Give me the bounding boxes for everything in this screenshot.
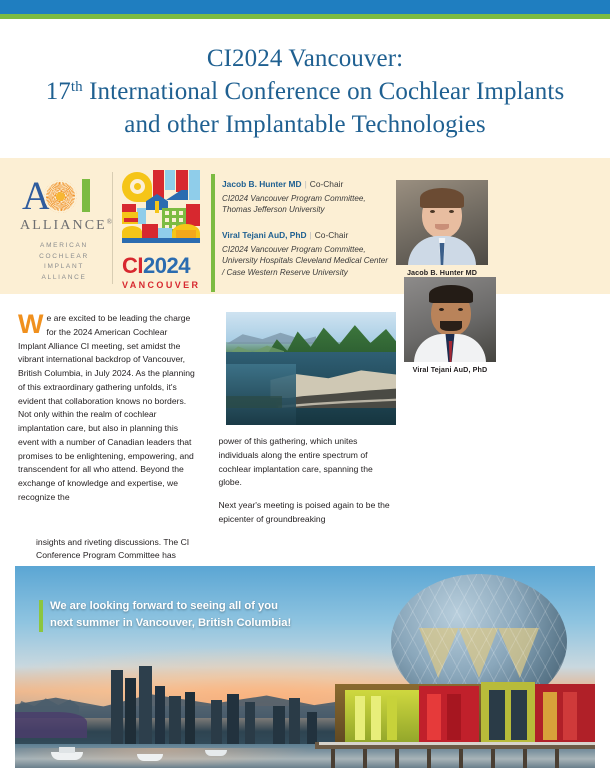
aci-subtext-line-2: COCHLEAR <box>20 252 108 263</box>
chair-separator: | <box>302 179 310 189</box>
aci-logo-mark: A <box>20 178 108 216</box>
aci-subtext: AMERICAN COCHLEAR IMPLANT ALLIANCE <box>20 241 108 284</box>
portrait-photo-jacob-hunter <box>396 180 488 265</box>
chair-name: Viral Tejani AuD, PhD <box>222 230 307 240</box>
article-paragraph: power of this gathering, which unites in… <box>218 435 396 490</box>
chair-heading: Viral Tejani AuD, PhD|Co-Chair <box>222 225 391 243</box>
aci-subtext-line-1: AMERICAN <box>20 241 108 252</box>
caption-accent-bar <box>39 600 43 632</box>
vancouver-skyline-science-world-dusk-photo: We are looking forward to seeing all of … <box>15 566 595 768</box>
ci2024-vancouver-logo: CI2024 VANCOUVER <box>122 168 200 290</box>
banner-caption-line-2: next summer in Vancouver, British Columb… <box>50 615 339 632</box>
ci-logo-city: VANCOUVER <box>122 280 200 290</box>
chair-heading: Jacob B. Hunter MD|Co-Chair <box>222 174 391 192</box>
title-line-2-post: International Conference on Cochlear Imp… <box>83 78 565 105</box>
aci-subtext-line-4: ALLIANCE <box>20 273 108 284</box>
vancouver-skyline-illustration-icon <box>122 168 200 250</box>
chair-entry: Jacob B. Hunter MD|Co-Chair CI2024 Vanco… <box>222 174 391 216</box>
title-line-2-pre: 17 <box>46 78 71 105</box>
chair-separator: | <box>307 230 315 240</box>
logo-divider <box>112 172 113 284</box>
aci-wordmark: ALLIANCE® <box>20 218 108 234</box>
ci-wordmark-year: 2024 <box>143 253 190 278</box>
title-line-2: 17th International Conference on Cochlea… <box>0 75 610 108</box>
sunburst-icon <box>44 180 77 213</box>
ci2024-wordmark: CI2024 <box>122 255 200 277</box>
page-title: CI2024 Vancouver: 17th International Con… <box>0 42 610 141</box>
article-paragraph: We are excited to be leading the charge … <box>18 312 196 505</box>
article-paragraph-text: e are excited to be leading the charge f… <box>18 313 195 502</box>
banner-caption-text: We are looking forward to seeing all of … <box>39 598 339 632</box>
chair-role: Co-Chair <box>310 179 344 189</box>
newsletter-page: CI2024 Vancouver: 17th International Con… <box>0 0 610 768</box>
stanley-park-seawall-photo <box>226 312 396 425</box>
drop-cap: W <box>18 313 46 335</box>
chair-name: Jacob B. Hunter MD <box>222 179 302 189</box>
banner-caption: We are looking forward to seeing all of … <box>39 598 339 632</box>
aci-letter-i-bar <box>82 179 90 212</box>
registered-mark: ® <box>107 218 114 226</box>
chair-role: Co-Chair <box>315 230 349 240</box>
aci-subtext-line-3: IMPLANT <box>20 262 108 273</box>
title-ordinal-suffix: th <box>71 79 83 95</box>
chair-affiliation: CI2024 Vancouver Program Committee, Thom… <box>222 193 391 216</box>
top-blue-rule <box>0 0 610 14</box>
article-column-2: power of this gathering, which unites in… <box>218 312 396 536</box>
title-line-3: and other Implantable Technologies <box>0 108 610 141</box>
chair-entry: Viral Tejani AuD, PhD|Co-Chair CI2024 Va… <box>222 225 391 278</box>
aci-wordmark-text: ALLIANCE <box>20 218 107 233</box>
chair-affiliation: CI2024 Vancouver Program Committee, Univ… <box>222 244 391 278</box>
headshot-item: Jacob B. Hunter MD <box>396 180 488 277</box>
headshot-caption: Jacob B. Hunter MD <box>396 268 488 277</box>
top-green-rule <box>0 14 610 19</box>
article-paragraph: Next year's meeting is poised again to b… <box>218 499 396 527</box>
chairs-accent-bar <box>211 174 215 292</box>
article-column-1: We are excited to be leading the charge … <box>18 312 196 514</box>
aci-alliance-logo: A ALLIANCE® AMERICAN COCHLEAR IMPLANT AL… <box>20 178 108 284</box>
banner-caption-line-1: We are looking forward to seeing all of … <box>50 598 339 615</box>
title-line-1: CI2024 Vancouver: <box>0 42 610 75</box>
conference-chairs-block: Jacob B. Hunter MD|Co-Chair CI2024 Vanco… <box>211 174 391 287</box>
ci-wordmark-ci: CI <box>122 253 143 278</box>
